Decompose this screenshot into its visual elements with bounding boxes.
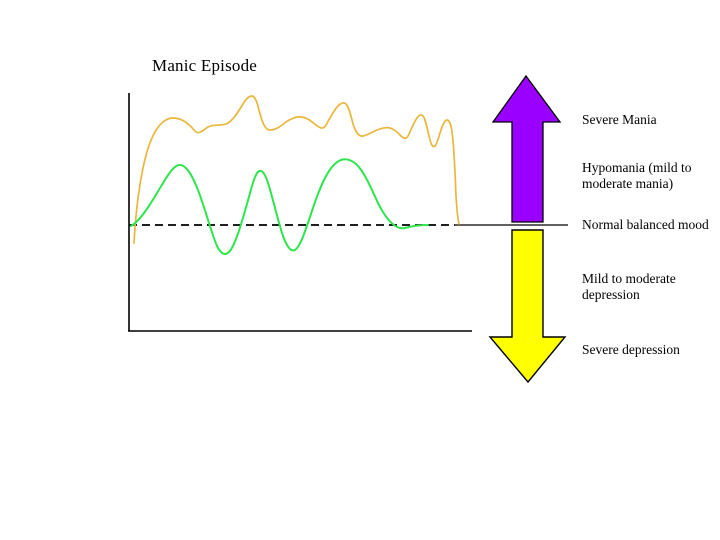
label-severe-depression: Severe depression [582,342,680,358]
hypomania-curve [131,159,428,254]
label-mild-to-moderate-depression: Mild to moderate depression [582,271,702,303]
label-hypomania: Hypomania (mild to moderate mania) [582,160,717,192]
mood-spectrum-diagram: Manic Episode Severe Mania Hypomania (mi… [0,0,720,540]
label-normal-balanced-mood: Normal balanced mood [582,217,709,233]
up-arrow-icon [493,76,560,222]
mania-curve [134,96,459,243]
diagram-canvas [0,0,720,540]
down-arrow-icon [490,230,565,382]
label-severe-mania: Severe Mania [582,112,657,128]
